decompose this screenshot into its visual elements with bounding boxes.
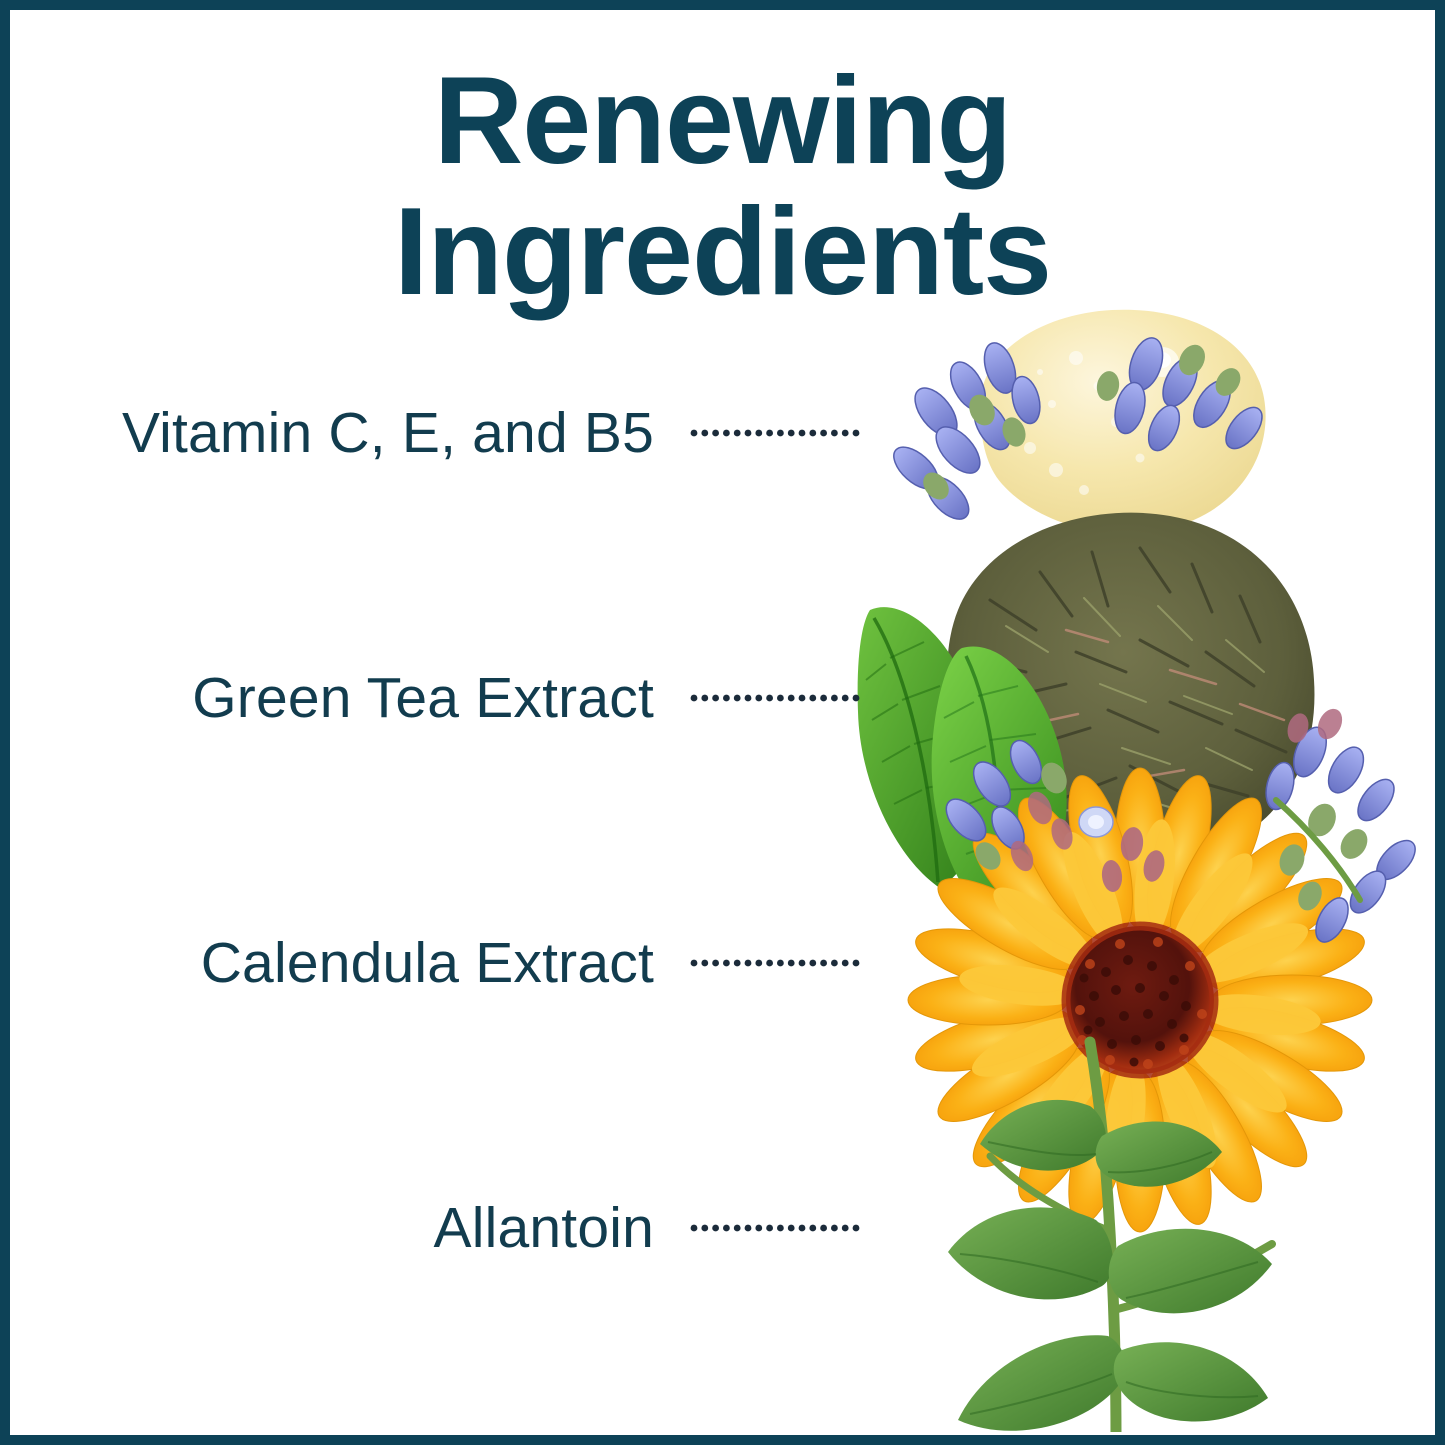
list-item: Green Tea Extract	[60, 663, 860, 733]
ingredient-label-green-tea: Green Tea Extract	[192, 665, 654, 731]
ingredient-label-calendula: Calendula Extract	[201, 930, 654, 996]
page-title: Renewing Ingredients	[0, 56, 1445, 319]
title-line-1: Renewing	[0, 56, 1445, 187]
dotted-leader-icon	[690, 428, 860, 438]
title-line-2: Ingredients	[0, 187, 1445, 318]
dotted-leader-icon	[690, 1223, 860, 1233]
list-item: Allantoin	[60, 1193, 860, 1263]
dotted-leader-icon	[690, 958, 860, 968]
ingredient-label-vitamins: Vitamin C, E, and B5	[122, 400, 654, 466]
dotted-leader-icon	[690, 693, 860, 703]
ingredients-infographic: Renewing Ingredients Vitamin C, E, and B…	[0, 0, 1445, 1445]
ingredient-collage	[840, 300, 1440, 1445]
ingredient-list: Vitamin C, E, and B5 Green Tea Extract	[60, 398, 860, 1263]
ingredient-label-allantoin: Allantoin	[434, 1195, 654, 1261]
list-item: Calendula Extract	[60, 928, 860, 998]
list-item: Vitamin C, E, and B5	[60, 398, 860, 468]
